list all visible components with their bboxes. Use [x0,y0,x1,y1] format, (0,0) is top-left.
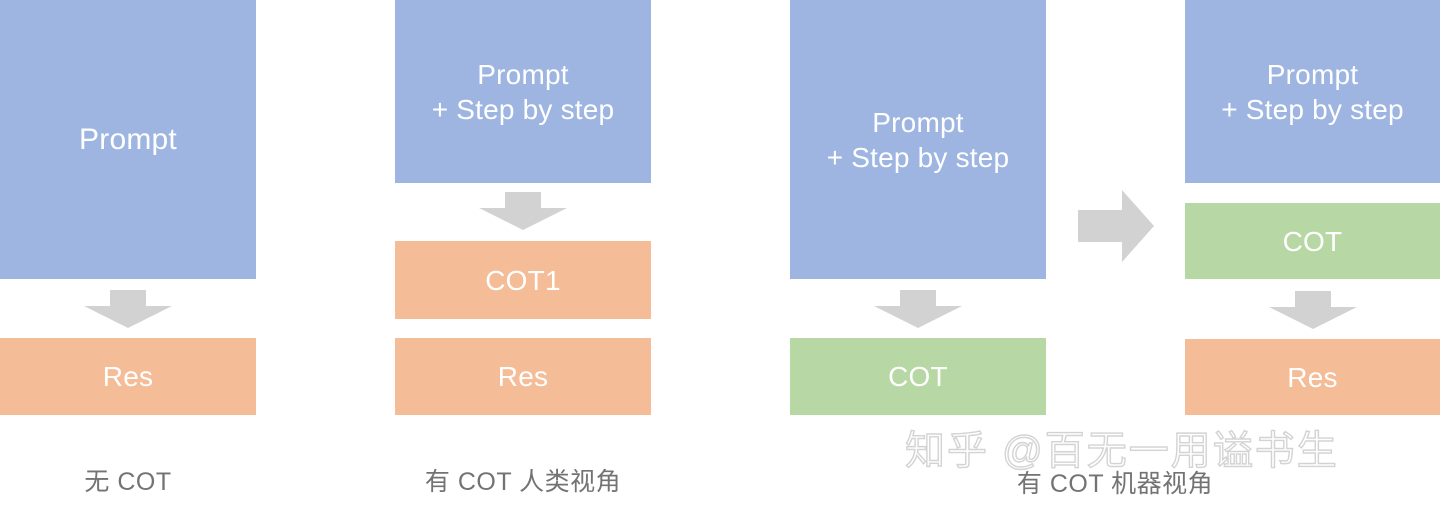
box-prompt-step-col2: Prompt + Step by step [395,0,651,183]
box-prompt-step-col4: Prompt + Step by step [1185,0,1440,183]
box-prompt-col1: Prompt [0,0,256,279]
box-res-col2: Res [395,338,651,415]
caption-cot-machine: 有 COT 机器视角 [960,464,1270,500]
diagram-canvas: Prompt Res 无 COT Prompt + Step by step C… [0,0,1440,514]
arrow-right-col3-to-col4 [1078,190,1154,262]
arrow-down-col3 [874,290,962,328]
box-cot-col4: COT [1185,203,1440,279]
box-cot1-col2: COT1 [395,241,651,319]
caption-cot-human: 有 COT 人类视角 [395,462,651,498]
caption-no-cot: 无 COT [0,462,256,498]
box-prompt-step-col3: Prompt + Step by step [790,0,1046,279]
arrow-down-col2 [479,192,567,230]
box-res-col4: Res [1185,339,1440,415]
box-res-col1: Res [0,338,256,415]
arrow-down-col4 [1269,291,1357,329]
box-cot-col3: COT [790,338,1046,415]
arrow-down-col1 [84,290,172,328]
